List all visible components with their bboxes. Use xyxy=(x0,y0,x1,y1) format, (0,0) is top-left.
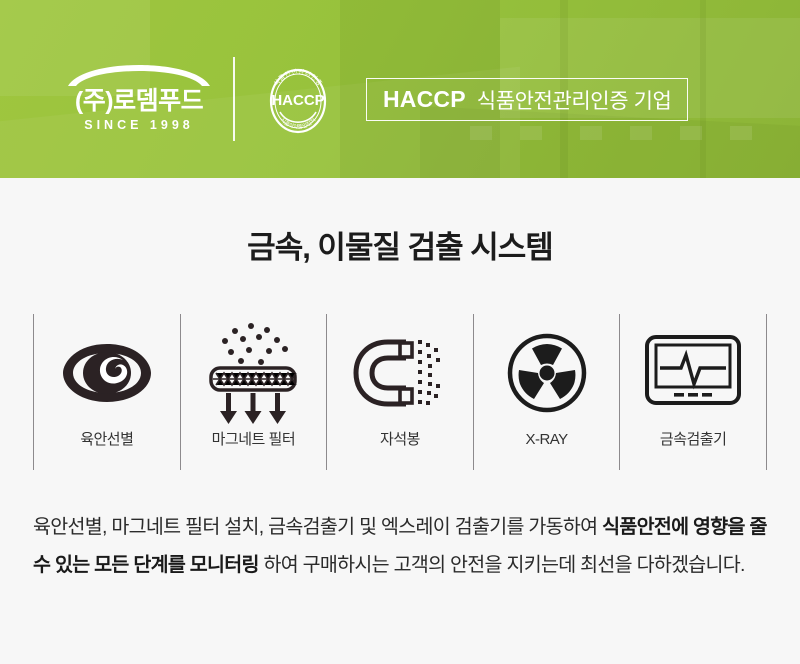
page-title: 금속, 이물질 검출 시스템 xyxy=(0,222,800,267)
detection-item-label: X-RAY xyxy=(525,432,567,447)
detection-item-metal-detector: 금속검출기 xyxy=(620,314,766,470)
company-since: SINCE 1998 xyxy=(60,118,218,132)
haccp-banner: HACCP 식품안전관리인증 기업 xyxy=(366,78,688,121)
header-divider xyxy=(233,57,235,141)
page-header: (주)로뎀푸드 SINCE 1998 식품안전관리인증 HACCP 식품의약 xyxy=(0,0,800,178)
magnet-filter-icon xyxy=(201,314,305,432)
svg-text:HACCP: HACCP xyxy=(271,92,324,109)
detection-item-label: 육안선별 xyxy=(80,432,133,447)
detection-item-visual-sorting: 육안선별 xyxy=(34,314,180,470)
eye-icon xyxy=(61,314,153,432)
detection-item-label: 마그네트 필터 xyxy=(212,432,295,447)
description-part-1: 육안선별, 마그네트 필터 설치, 금속검출기 및 엑스레이 검출기를 가동하여 xyxy=(33,516,602,538)
detection-item-label: 금속검출기 xyxy=(660,432,727,447)
haccp-banner-ko: 식품안전관리인증 기업 xyxy=(477,85,672,115)
company-logo: (주)로뎀푸드 SINCE 1998 xyxy=(60,56,218,132)
haccp-seal-icon: 식품안전관리인증 HACCP 식품의약품안전처 xyxy=(263,64,333,138)
column-separator xyxy=(766,314,767,470)
detection-system-icon-row: 육안선별 xyxy=(33,314,767,470)
horseshoe-magnet-icon xyxy=(348,314,452,432)
detection-item-label: 자석봉 xyxy=(380,432,420,447)
metal-detector-monitor-icon xyxy=(644,314,742,432)
detection-item-magnet-filter: 마그네트 필터 xyxy=(181,314,327,470)
description-part-2: 하여 구매하시는 고객의 안전을 지키는데 최선을 다하겠습니다. xyxy=(259,554,745,576)
haccp-banner-en: HACCP xyxy=(383,86,466,113)
arc-swoosh-icon xyxy=(64,56,214,86)
description-paragraph: 육안선별, 마그네트 필터 설치, 금속검출기 및 엑스레이 검출기를 가동하여… xyxy=(33,508,773,584)
detection-item-magnet-bar: 자석봉 xyxy=(327,314,473,470)
company-name: (주)로뎀푸드 xyxy=(60,88,218,114)
radiation-icon xyxy=(506,314,588,432)
detection-item-xray: X-RAY xyxy=(474,314,620,470)
